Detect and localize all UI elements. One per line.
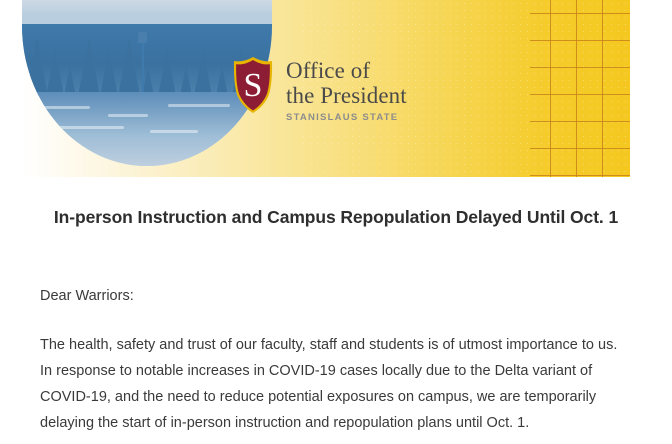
logo-line-2: the President <box>286 83 407 108</box>
logo-line-1: Office of <box>286 58 407 83</box>
stanislaus-state-shield-icon: S <box>232 56 274 114</box>
email-header-banner: S Office of the President STANISLAUS STA… <box>0 0 672 186</box>
salutation-text: Dear Warriors: <box>40 285 134 307</box>
email-newsletter-page: S Office of the President STANISLAUS STA… <box>0 0 672 444</box>
svg-text:S: S <box>244 67 263 104</box>
logo-wordmark: Office of the President STANISLAUS STATE <box>286 56 407 123</box>
logo-subtitle: STANISLAUS STATE <box>286 112 407 123</box>
body-paragraph: The health, safety and trust of our facu… <box>40 332 632 436</box>
page-title: In-person Instruction and Campus Repopul… <box>40 204 632 230</box>
orange-grid-pattern <box>530 0 630 177</box>
lamp-head <box>138 32 147 43</box>
office-of-the-president-logo: S Office of the President STANISLAUS STA… <box>232 56 407 123</box>
